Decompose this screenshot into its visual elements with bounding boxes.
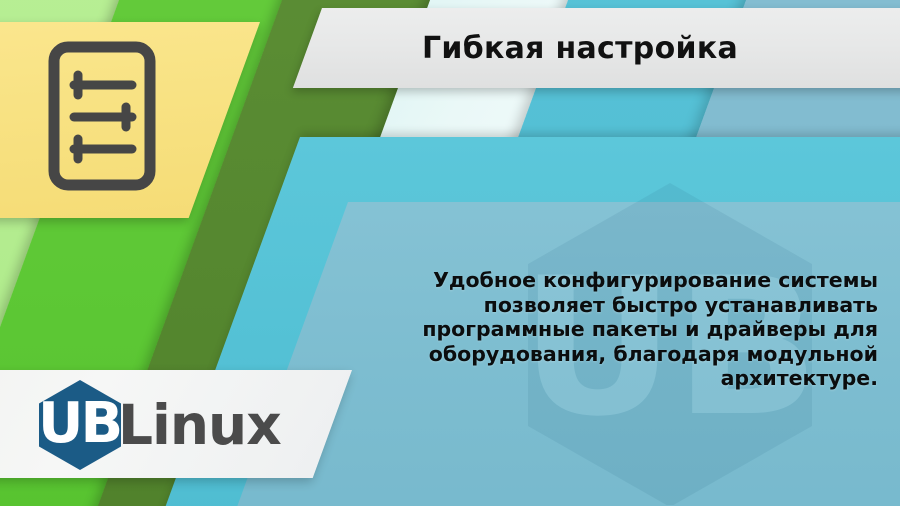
slide-body-text: Удобное конфигурирование системы позволя…: [400, 268, 878, 391]
body-line: оборудования, благодаря модульной: [400, 342, 878, 367]
logo-mark-text: UB: [38, 396, 158, 452]
body-line: позволяет быстро устанавливать: [400, 293, 878, 318]
slide-title: Гибкая настройка: [360, 8, 800, 88]
body-line: архитектуре.: [400, 366, 878, 391]
body-line: программные пакеты и драйверы для: [400, 317, 878, 342]
brand-logo: UB Linux: [36, 378, 316, 472]
body-line: Удобное конфигурирование системы: [400, 268, 878, 293]
settings-sliders-icon: [48, 41, 156, 191]
slide-canvas: UB Гибкая настройка Удобное конфигуриров…: [0, 0, 900, 506]
